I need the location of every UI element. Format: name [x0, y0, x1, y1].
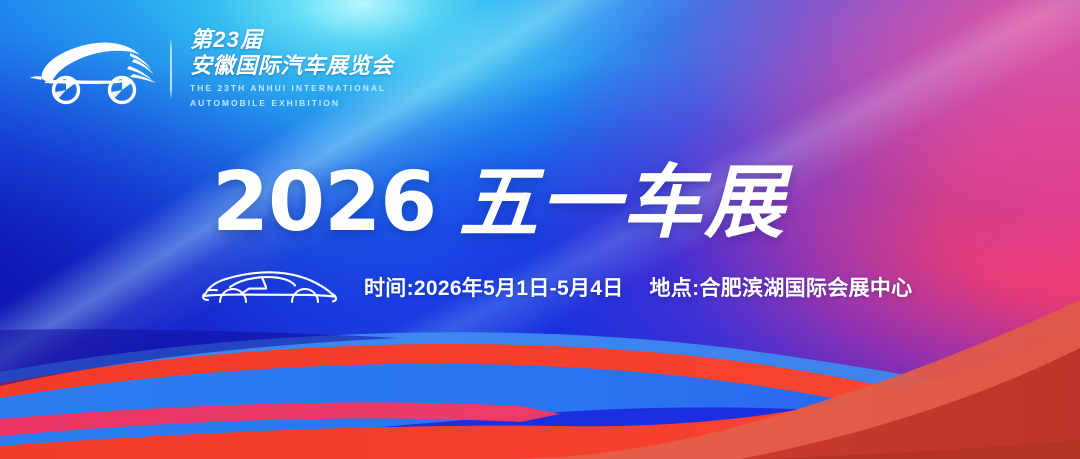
logo-event-name-en-1: THE 23TH ANHUI INTERNATIONAL [190, 83, 393, 95]
logo-divider [170, 38, 172, 100]
page-title: 2026 五一车展 [212, 162, 786, 244]
logo-event-name-en-2: AUTOMOBILE EXHIBITION [190, 98, 393, 110]
info-text-group: 时间:2026年5月1日-5月4日 地点:合肥滨湖国际会展中心 [364, 272, 912, 302]
event-date: 时间:2026年5月1日-5月4日 [364, 272, 624, 302]
event-logo-block: 第23届 安徽国际汽车展览会 THE 23TH ANHUI INTERNATIO… [30, 28, 393, 110]
car-brushstroke-logo-icon [30, 28, 162, 110]
event-venue: 地点:合肥滨湖国际会展中心 [650, 272, 913, 302]
auto-show-banner: 第23届 安徽国际汽车展览会 THE 23TH ANHUI INTERNATIO… [0, 0, 1080, 459]
title-year: 2026 [212, 162, 436, 244]
logo-text-group: 第23届 安徽国际汽车展览会 THE 23TH ANHUI INTERNATIO… [190, 28, 393, 110]
event-info-line: 时间:2026年5月1日-5月4日 地点:合肥滨湖国际会展中心 [200, 262, 912, 312]
logo-event-name-cn: 安徽国际汽车展览会 [190, 53, 393, 79]
sports-car-outline-icon [200, 262, 338, 312]
logo-edition-label: 第23届 [190, 28, 393, 53]
title-event-cn: 五一车展 [458, 163, 786, 243]
